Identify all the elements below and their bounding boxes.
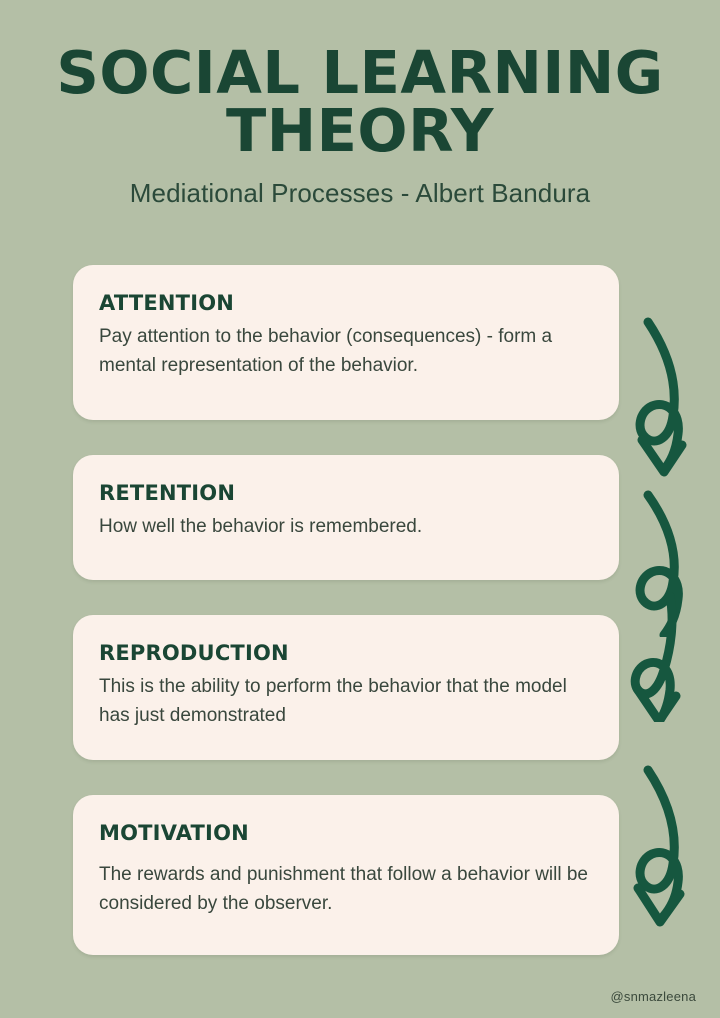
page-title-line-2: THEORY — [226, 96, 494, 165]
step-title: ATTENTION — [99, 291, 593, 315]
step-title: MOTIVATION — [99, 821, 593, 845]
step-card-retention: RETENTION How well the behavior is remem… — [73, 455, 619, 580]
step-title: REPRODUCTION — [99, 641, 593, 665]
page-subtitle: Mediational Processes - Albert Bandura — [50, 178, 670, 209]
step-card-reproduction: REPRODUCTION This is the ability to perf… — [73, 615, 619, 760]
curly-arrow-icon — [624, 762, 696, 927]
step-title: RETENTION — [99, 481, 593, 505]
step-body: The rewards and punishment that follow a… — [99, 861, 593, 919]
curly-arrow-icon — [626, 487, 698, 637]
step-body: This is the ability to perform the behav… — [99, 673, 593, 731]
curly-arrow-icon — [626, 312, 698, 477]
poster-header: SOCIAL LEARNING THEORY Mediational Proce… — [50, 44, 670, 209]
infographic-poster: SOCIAL LEARNING THEORY Mediational Proce… — [0, 0, 720, 1018]
step-card-attention: ATTENTION Pay attention to the behavior … — [73, 265, 619, 420]
curly-arrow-icon — [626, 592, 692, 722]
author-handle: @snmazleena — [611, 989, 697, 1004]
page-title: SOCIAL LEARNING THEORY — [50, 44, 670, 160]
step-card-motivation: MOTIVATION The rewards and punishment th… — [73, 795, 619, 955]
step-body: How well the behavior is remembered. — [99, 513, 593, 542]
step-body: Pay attention to the behavior (consequen… — [99, 323, 593, 381]
